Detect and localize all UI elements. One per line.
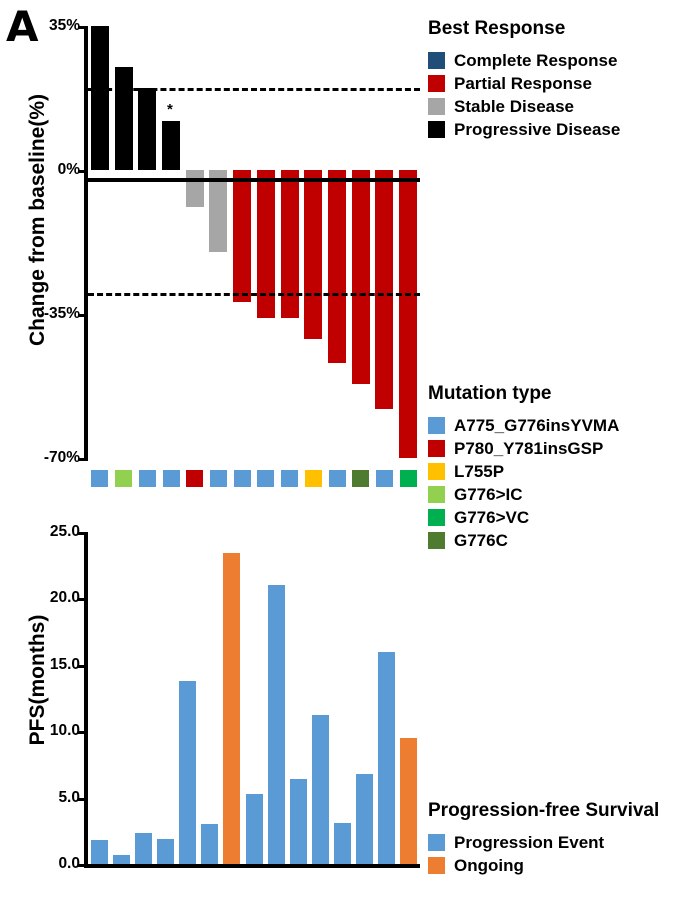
pfs-bar	[91, 840, 108, 864]
pfs-bar	[157, 839, 174, 864]
legend-swatch-icon	[428, 52, 445, 69]
legend-item: Progression Event	[428, 831, 659, 853]
pfs-tick-label: 25.0	[50, 523, 80, 541]
pfs-x-axis-line	[84, 864, 420, 868]
pfs-bar	[334, 823, 351, 864]
mutation-type-square	[91, 470, 108, 487]
legend-swatch-icon	[428, 463, 445, 480]
legend-swatch-icon	[428, 98, 445, 115]
pfs-tick-mark	[78, 532, 88, 535]
legend-best-response-items: Complete ResponsePartial ResponseStable …	[428, 49, 620, 140]
legend-progression-free-survival: Progression-free Survival Progression Ev…	[428, 800, 659, 877]
waterfall-zero-baseline	[88, 178, 420, 182]
pfs-bar	[113, 855, 130, 864]
mutation-type-square	[234, 470, 251, 487]
legend-item: L755P	[428, 460, 619, 482]
legend-best-response: Best Response Complete ResponsePartial R…	[428, 18, 620, 141]
waterfall-y-tick-labels: 35%0%-35%-70%	[0, 18, 80, 468]
legend-item: Complete Response	[428, 49, 620, 71]
pfs-bar	[268, 585, 285, 864]
pfs-tick-mark	[78, 864, 88, 867]
legend-swatch-icon	[428, 857, 445, 874]
mutation-type-square	[186, 470, 203, 487]
waterfall-bar	[138, 88, 156, 170]
waterfall-bar	[375, 170, 393, 409]
pfs-y-tick-labels: 0.05.010.015.020.025.0	[0, 528, 80, 903]
pfs-bar	[135, 833, 152, 864]
legend-item-label: Partial Response	[454, 75, 592, 92]
legend-item: Stable Disease	[428, 95, 620, 117]
pfs-bar	[356, 774, 373, 864]
mutation-type-square	[210, 470, 227, 487]
legend-swatch-icon	[428, 486, 445, 503]
legend-pfs-items: Progression EventOngoing	[428, 831, 659, 876]
legend-item: G776C	[428, 529, 619, 551]
waterfall-tick-mark	[78, 170, 88, 173]
mutation-type-square	[257, 470, 274, 487]
legend-mutation-type: Mutation type A775_G776insYVMAP780_Y781i…	[428, 383, 619, 552]
pfs-bar	[179, 681, 196, 864]
legend-best-response-title: Best Response	[428, 18, 620, 40]
legend-item: G776>IC	[428, 483, 619, 505]
legend-swatch-icon	[428, 532, 445, 549]
mutation-type-strip	[88, 470, 420, 488]
waterfall-tick-label: -70%	[44, 449, 80, 467]
legend-item-label: P780_Y781insGSP	[454, 440, 603, 457]
pfs-tick-mark	[78, 598, 88, 601]
pfs-bar	[400, 738, 417, 864]
pfs-tick-label: 0.0	[58, 855, 80, 873]
waterfall-bar	[162, 121, 180, 170]
waterfall-tick-mark	[78, 458, 88, 461]
waterfall-tick-label: -35%	[44, 305, 80, 323]
pfs-tick-label: 20.0	[50, 589, 80, 607]
pfs-tick-label: 15.0	[50, 656, 80, 674]
waterfall-tick-mark	[78, 26, 88, 29]
legend-swatch-icon	[428, 834, 445, 851]
legend-mutation-type-title: Mutation type	[428, 383, 619, 405]
waterfall-reference-line	[88, 293, 420, 296]
legend-item: Ongoing	[428, 854, 659, 876]
legend-item-label: Stable Disease	[454, 98, 574, 115]
legend-item-label: A775_G776insYVMA	[454, 417, 619, 434]
waterfall-bar	[186, 170, 204, 207]
waterfall-tick-label: 0%	[58, 161, 80, 179]
legend-pfs-title: Progression-free Survival	[428, 800, 659, 822]
legend-item: A775_G776insYVMA	[428, 414, 619, 436]
mutation-type-square	[376, 470, 393, 487]
legend-item-label: G776>VC	[454, 509, 529, 526]
legend-item: Progressive Disease	[428, 118, 620, 140]
legend-item-label: G776C	[454, 532, 508, 549]
legend-item: P780_Y781insGSP	[428, 437, 619, 459]
waterfall-chart: Change from baseline(%) 35%0%-35%-70% *	[0, 18, 420, 468]
waterfall-tick-mark	[78, 314, 88, 317]
pfs-tick-mark	[78, 731, 88, 734]
pfs-bar	[378, 652, 395, 864]
legend-item: Partial Response	[428, 72, 620, 94]
waterfall-plot-area	[88, 26, 420, 458]
pfs-tick-label: 5.0	[58, 789, 80, 807]
waterfall-bar	[352, 170, 370, 384]
waterfall-bar	[209, 170, 227, 252]
legend-swatch-icon	[428, 121, 445, 138]
pfs-tick-label: 10.0	[50, 722, 80, 740]
mutation-type-square	[329, 470, 346, 487]
pfs-tick-mark	[78, 798, 88, 801]
mutation-type-square	[163, 470, 180, 487]
mutation-type-square	[115, 470, 132, 487]
legend-swatch-icon	[428, 75, 445, 92]
pfs-tick-mark	[78, 665, 88, 668]
pfs-bar	[312, 715, 329, 864]
legend-item-label: Ongoing	[454, 857, 524, 874]
waterfall-bar	[233, 170, 251, 302]
legend-item-label: Progression Event	[454, 834, 604, 851]
waterfall-asterisk-annotation: *	[167, 101, 173, 118]
mutation-type-square	[400, 470, 417, 487]
legend-item: G776>VC	[428, 506, 619, 528]
mutation-type-square	[305, 470, 322, 487]
waterfall-bar	[91, 26, 109, 170]
mutation-type-square	[352, 470, 369, 487]
pfs-bar	[223, 553, 240, 864]
waterfall-bar	[399, 170, 417, 458]
mutation-type-square	[139, 470, 156, 487]
waterfall-tick-label: 35%	[49, 17, 80, 35]
legend-item-label: Complete Response	[454, 52, 617, 69]
legend-swatch-icon	[428, 417, 445, 434]
legend-swatch-icon	[428, 509, 445, 526]
waterfall-bar	[328, 170, 346, 363]
legend-item-label: G776>IC	[454, 486, 523, 503]
legend-mutation-type-items: A775_G776insYVMAP780_Y781insGSPL755PG776…	[428, 414, 619, 551]
pfs-chart: PFS(months) 0.05.010.015.020.025.0	[0, 528, 420, 903]
pfs-bar	[246, 794, 263, 864]
legend-item-label: L755P	[454, 463, 504, 480]
legend-swatch-icon	[428, 440, 445, 457]
mutation-type-square	[281, 470, 298, 487]
waterfall-bar	[115, 67, 133, 170]
legend-item-label: Progressive Disease	[454, 121, 620, 138]
waterfall-bar	[304, 170, 322, 339]
pfs-plot-area	[88, 532, 420, 864]
pfs-bar	[290, 779, 307, 864]
pfs-bar	[201, 824, 218, 864]
